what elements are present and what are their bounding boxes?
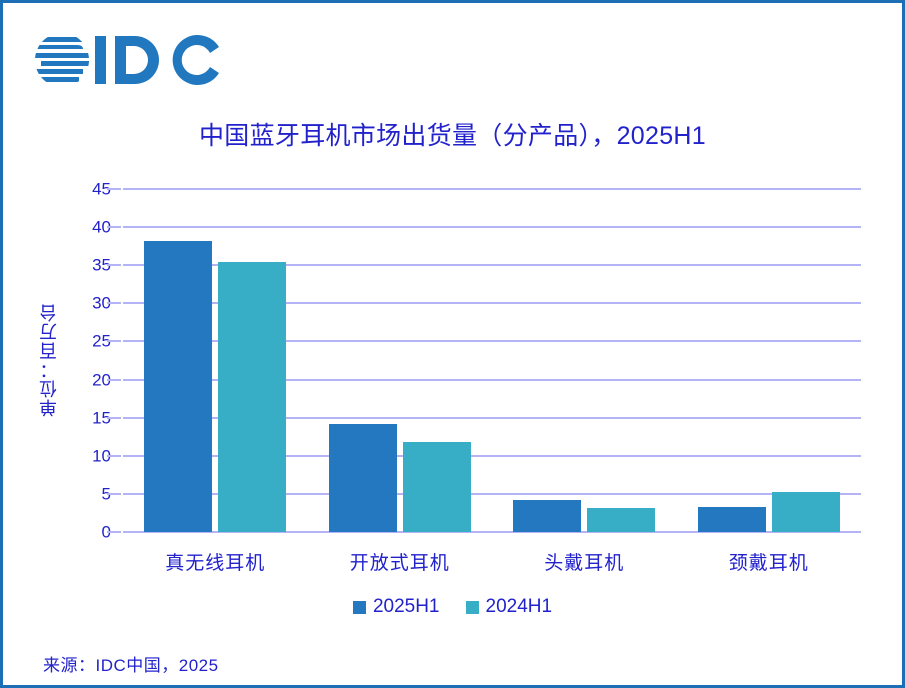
y-tick-mark [107, 455, 121, 457]
x-tick-label: 颈戴耳机 [677, 548, 862, 575]
legend-item[interactable]: 2025H1 [353, 596, 440, 618]
idc-globe-icon [33, 31, 91, 89]
y-tick-mark [107, 302, 121, 304]
bar[interactable] [772, 492, 840, 532]
bar-group [308, 189, 493, 532]
bar-group [123, 189, 308, 532]
y-tick-mark [107, 379, 121, 381]
bar-group [492, 189, 677, 532]
bar[interactable] [218, 262, 286, 532]
y-tick-mark [107, 264, 121, 266]
x-tick-label: 头戴耳机 [492, 548, 677, 575]
legend-label: 2024H1 [486, 596, 553, 618]
bar[interactable] [513, 500, 581, 532]
y-tick-mark [107, 417, 121, 419]
chart-title: 中国蓝牙耳机市场出货量（分产品），2025H1 [3, 116, 902, 152]
y-tick-mark [107, 493, 121, 495]
y-axis-tick-marks [3, 189, 133, 532]
bar[interactable] [329, 424, 397, 532]
legend-swatch [466, 601, 479, 614]
idc-logo [33, 29, 221, 91]
plot-area [123, 189, 861, 532]
bars-layer [123, 189, 861, 532]
bar-group [677, 189, 862, 532]
bar[interactable] [698, 507, 766, 532]
bar[interactable] [144, 241, 212, 532]
bar[interactable] [403, 442, 471, 532]
legend-label: 2025H1 [373, 596, 440, 618]
y-tick-mark [107, 226, 121, 228]
x-tick-label: 真无线耳机 [123, 548, 308, 575]
chart-legend: 2025H12024H1 [3, 596, 902, 618]
x-tick-label: 开放式耳机 [308, 548, 493, 575]
source-note: 来源：IDC中国，2025 [43, 651, 219, 676]
legend-swatch [353, 601, 366, 614]
idc-wordmark [93, 34, 221, 86]
x-axis-labels: 真无线耳机开放式耳机头戴耳机颈戴耳机 [123, 548, 861, 575]
y-tick-mark [107, 188, 121, 190]
y-tick-mark [107, 531, 121, 533]
legend-item[interactable]: 2024H1 [466, 596, 553, 618]
y-tick-mark [107, 340, 121, 342]
bar[interactable] [587, 508, 655, 532]
chart-page: 中国蓝牙耳机市场出货量（分产品），2025H1 单位：百万台 454035302… [0, 0, 905, 688]
